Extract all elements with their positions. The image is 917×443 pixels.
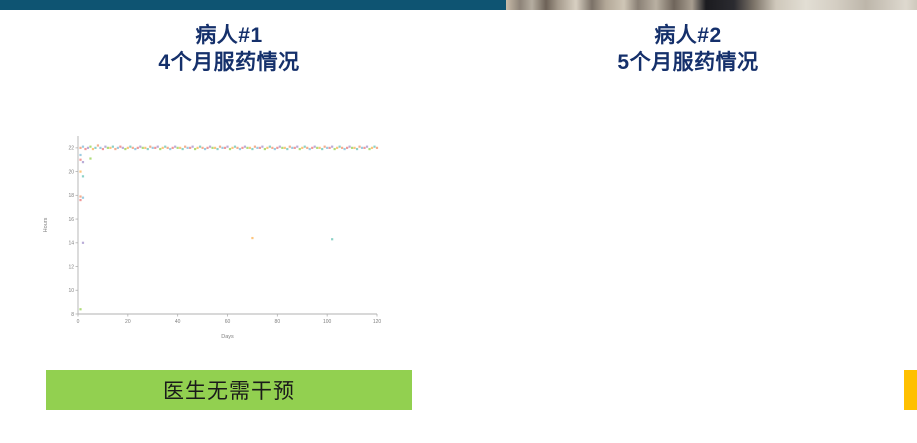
svg-text:12: 12 xyxy=(68,264,74,270)
patient-1-caption-banner: 医生无需干预 xyxy=(46,370,412,410)
svg-text:80: 80 xyxy=(275,319,281,325)
svg-text:8: 8 xyxy=(71,312,74,318)
svg-text:20: 20 xyxy=(68,169,74,175)
patient-1-scatter-chart: 020406080100120810121416182022DaysHours xyxy=(38,128,383,340)
svg-text:60: 60 xyxy=(225,319,231,325)
svg-text:0: 0 xyxy=(77,319,80,325)
patient-2-title: 病人#2 5个月服药情况 xyxy=(459,22,917,76)
svg-text:22: 22 xyxy=(68,146,74,152)
svg-text:20: 20 xyxy=(125,319,131,325)
svg-text:18: 18 xyxy=(68,193,74,199)
svg-text:Hours: Hours xyxy=(43,217,49,232)
svg-text:16: 16 xyxy=(68,217,74,223)
svg-text:120: 120 xyxy=(373,319,382,325)
svg-text:100: 100 xyxy=(323,319,332,325)
patient-1-title: 病人#1 4个月服药情况 xyxy=(0,22,458,76)
svg-text:10: 10 xyxy=(68,288,74,294)
patient-2-panel: 病人#2 5个月服药情况 020406080100120140160051015… xyxy=(459,0,917,443)
svg-text:Days: Days xyxy=(221,334,234,340)
svg-text:14: 14 xyxy=(68,241,74,247)
svg-text:40: 40 xyxy=(175,319,181,325)
patient-2-caption-banner: 依从性不佳医生需及早干预 xyxy=(904,370,917,410)
patient-1-panel: 病人#1 4个月服药情况 020406080100120810121416182… xyxy=(0,0,458,443)
